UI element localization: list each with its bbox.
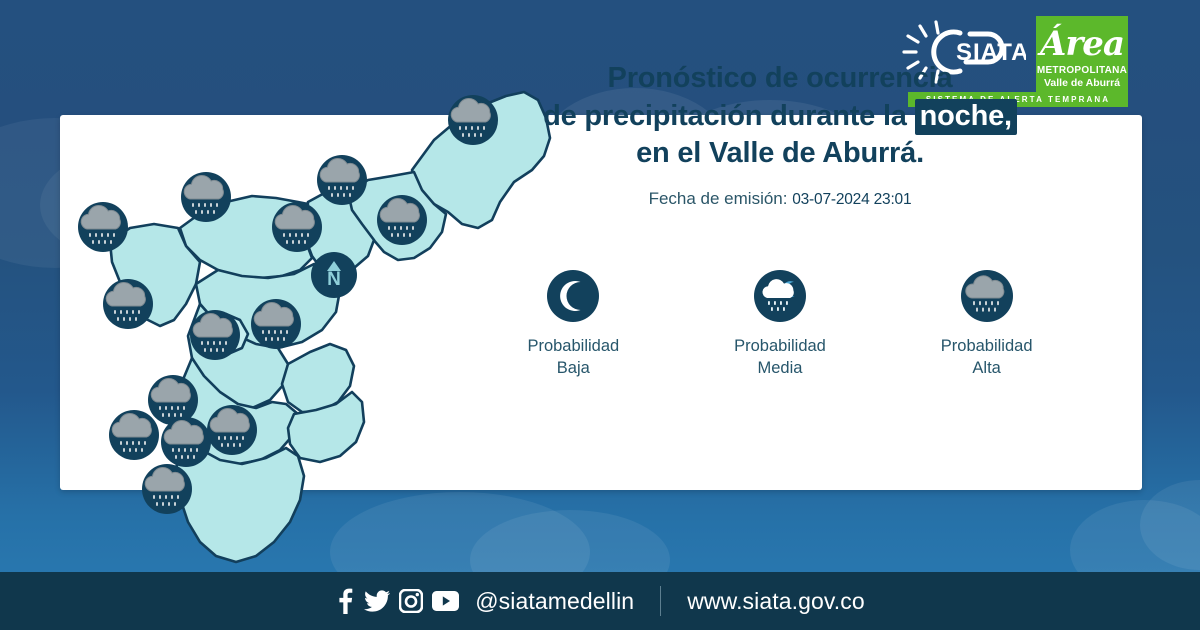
title-line-2: de precipitación durante la noche, <box>470 98 1090 136</box>
footer-divider <box>660 586 661 616</box>
legend-item-media: Probabilidad Media <box>692 270 867 380</box>
emission-date-label: Fecha de emisión: <box>649 189 788 208</box>
facebook-icon[interactable] <box>335 588 355 614</box>
instagram-icon[interactable] <box>399 589 423 613</box>
moon-icon <box>547 270 599 322</box>
legend-label-media: Probabilidad Media <box>734 335 826 380</box>
compass-north-icon: N <box>311 252 357 298</box>
title-line-3: en el Valle de Aburrá. <box>470 135 1090 173</box>
infographic-canvas: SIATA Área METROPOLITANA Valle de Aburrá… <box>0 0 1200 630</box>
legend-item-baja: Probabilidad Baja <box>486 270 661 380</box>
cloud-heavy-rain-icon <box>961 270 1013 322</box>
title-line-2-text: de precipitación durante la <box>543 100 907 132</box>
twitter-icon[interactable] <box>364 588 390 614</box>
social-handle[interactable]: @siatamedellin <box>475 588 634 615</box>
cloud-moon-rain-icon <box>754 270 806 322</box>
website-url[interactable]: www.siata.gov.co <box>687 588 865 615</box>
page-title: Pronóstico de ocurrencia de precipitació… <box>470 60 1090 173</box>
svg-text:N: N <box>327 269 341 290</box>
forecast-text-block: Pronóstico de ocurrencia de precipitació… <box>470 60 1090 209</box>
footer-bar: @siatamedellin www.siata.gov.co <box>0 572 1200 630</box>
title-line-1: Pronóstico de ocurrencia <box>470 60 1090 98</box>
probability-legend: Probabilidad Baja Proba <box>470 270 1090 380</box>
emission-date: Fecha de emisión: 03-07-2024 23:01 <box>470 189 1090 209</box>
legend-item-alta: Probabilidad Alta <box>899 270 1074 380</box>
background-cloud-icon <box>1140 480 1200 570</box>
legend-label-baja: Probabilidad Baja <box>527 335 619 380</box>
legend-label-alta: Probabilidad Alta <box>941 335 1033 380</box>
emission-date-value: 03-07-2024 23:01 <box>792 191 911 208</box>
title-highlight-noche: noche, <box>915 99 1017 135</box>
youtube-icon[interactable] <box>432 591 459 611</box>
social-icon-group <box>335 588 459 614</box>
